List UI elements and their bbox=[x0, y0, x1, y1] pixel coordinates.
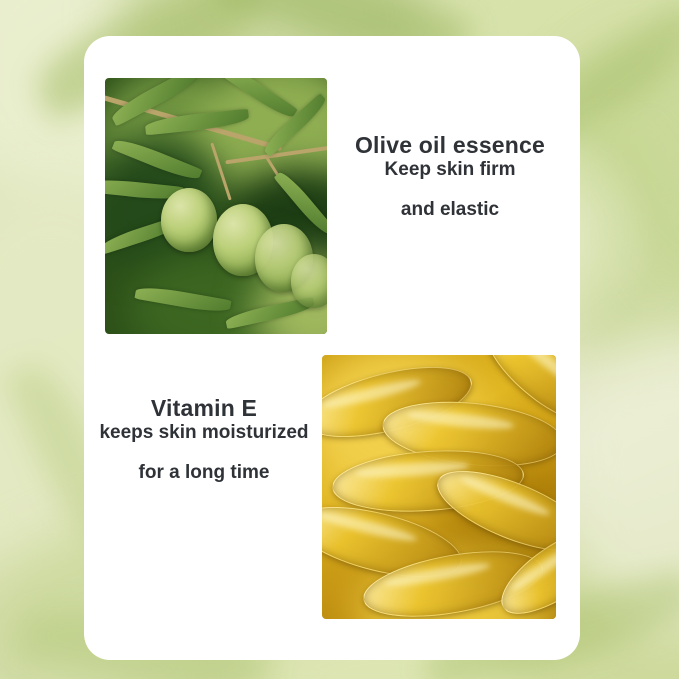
olive-oil-heading: Olive oil essence bbox=[330, 132, 570, 159]
vitamin-e-heading: Vitamin E bbox=[80, 395, 328, 422]
capsules-photo-scene bbox=[322, 355, 556, 619]
olive-fruit bbox=[161, 188, 217, 252]
vitamin-e-text-block: Vitamin E keeps skin moisturized for a l… bbox=[80, 395, 328, 484]
vitamin-e-line-2: for a long time bbox=[80, 462, 328, 484]
product-feature-poster: Olive oil essence Keep skin firm and ela… bbox=[0, 0, 679, 679]
olive-photo-scene bbox=[105, 78, 327, 334]
vitamin-e-capsules-photo bbox=[322, 355, 556, 619]
olive-oil-line-1: Keep skin firm bbox=[330, 159, 570, 181]
vitamin-e-line-1: keeps skin moisturized bbox=[80, 422, 328, 444]
olive-oil-text-block: Olive oil essence Keep skin firm and ela… bbox=[330, 132, 570, 221]
olive-branch-photo bbox=[105, 78, 327, 334]
olive-oil-line-2: and elastic bbox=[330, 199, 570, 221]
olive-fruit bbox=[291, 254, 327, 308]
